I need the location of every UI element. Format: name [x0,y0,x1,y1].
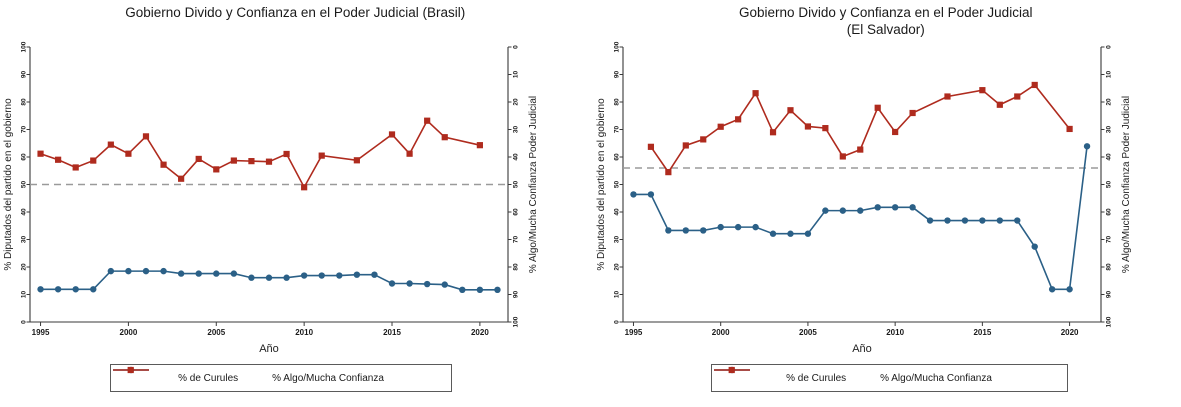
legend-line-square-icon [712,365,752,375]
svg-text:60: 60 [21,153,28,161]
svg-text:40: 40 [613,208,620,216]
svg-text:1995: 1995 [624,328,642,337]
y-axis-label-left: % Diputados del partido en el gobierno [596,98,607,271]
legend-item-curules[interactable]: % de Curules [178,373,238,384]
legend-item-confianza[interactable]: % Algo/Mucha Confianza [880,373,992,384]
svg-text:40: 40 [1105,153,1112,161]
svg-text:0: 0 [613,320,620,324]
svg-text:70: 70 [513,236,520,244]
svg-text:0: 0 [1105,45,1112,49]
svg-text:100: 100 [21,41,28,52]
chart-legend-el-salvador: % de Curules% Algo/Mucha Confianza [711,364,1068,392]
chart-svg-el-salvador: 0102030405060708090100010203040506070809… [591,0,1181,407]
svg-text:1995: 1995 [32,328,50,337]
svg-text:20: 20 [513,98,520,106]
svg-text:2005: 2005 [799,328,817,337]
svg-text:30: 30 [513,126,520,134]
svg-text:2020: 2020 [1060,328,1078,337]
svg-text:50: 50 [21,181,28,189]
svg-text:60: 60 [513,208,520,216]
svg-text:60: 60 [1105,208,1112,216]
svg-text:70: 70 [1105,236,1112,244]
svg-text:2005: 2005 [207,328,225,337]
svg-text:90: 90 [21,71,28,79]
svg-text:2015: 2015 [383,328,401,337]
svg-text:30: 30 [613,236,620,244]
svg-text:2020: 2020 [471,328,489,337]
svg-text:80: 80 [513,263,520,271]
svg-text:2000: 2000 [711,328,729,337]
svg-text:2010: 2010 [886,328,904,337]
y-axis-label-left: % Diputados del partido en el gobierno [3,98,14,271]
svg-text:20: 20 [613,263,620,271]
svg-text:90: 90 [1105,291,1112,299]
chart-svg-brasil: 0102030405060708090100010203040506070809… [0,0,590,407]
svg-text:2010: 2010 [295,328,313,337]
svg-text:40: 40 [513,153,520,161]
svg-text:0: 0 [21,320,28,324]
legend-label: % Algo/Mucha Confianza [880,373,992,384]
y-axis-label-right: % Algo/Mucha Confianza Poder Judicial [528,96,539,273]
svg-text:20: 20 [21,263,28,271]
dual-chart-figure: Gobierno Divido y Confianza en el Poder … [0,0,1181,407]
legend-label: % de Curules [178,373,238,384]
svg-text:100: 100 [1105,316,1112,327]
chart-legend-brasil: % de Curules% Algo/Mucha Confianza [110,364,452,392]
svg-text:60: 60 [613,153,620,161]
svg-text:100: 100 [513,316,520,327]
svg-text:10: 10 [1105,71,1112,79]
legend-label: % de Curules [786,373,846,384]
svg-text:90: 90 [513,291,520,299]
svg-text:90: 90 [613,71,620,79]
svg-text:2000: 2000 [120,328,138,337]
legend-line-square-icon [111,365,151,375]
svg-text:70: 70 [613,126,620,134]
y-axis-label-right: % Algo/Mucha Confianza Poder Judicial [1121,96,1132,273]
legend-label: % Algo/Mucha Confianza [272,373,384,384]
svg-text:80: 80 [1105,263,1112,271]
svg-text:10: 10 [613,291,620,299]
svg-text:10: 10 [21,291,28,299]
svg-text:30: 30 [21,236,28,244]
legend-item-confianza[interactable]: % Algo/Mucha Confianza [272,373,384,384]
svg-text:50: 50 [513,181,520,189]
svg-text:50: 50 [613,181,620,189]
svg-text:30: 30 [1105,126,1112,134]
chart-panel-el-salvador: Gobierno Divido y Confianza en el Poder … [591,0,1181,407]
x-axis-label: Año [259,343,279,355]
svg-text:40: 40 [21,208,28,216]
chart-panel-brasil: Gobierno Divido y Confianza en el Poder … [0,0,591,407]
svg-text:80: 80 [613,98,620,106]
svg-text:100: 100 [613,41,620,52]
svg-text:50: 50 [1105,181,1112,189]
svg-text:70: 70 [21,126,28,134]
svg-text:0: 0 [513,45,520,49]
svg-text:80: 80 [21,98,28,106]
svg-text:2015: 2015 [973,328,991,337]
svg-text:10: 10 [513,71,520,79]
legend-item-curules[interactable]: % de Curules [786,373,846,384]
svg-text:20: 20 [1105,98,1112,106]
x-axis-label: Año [852,343,872,355]
